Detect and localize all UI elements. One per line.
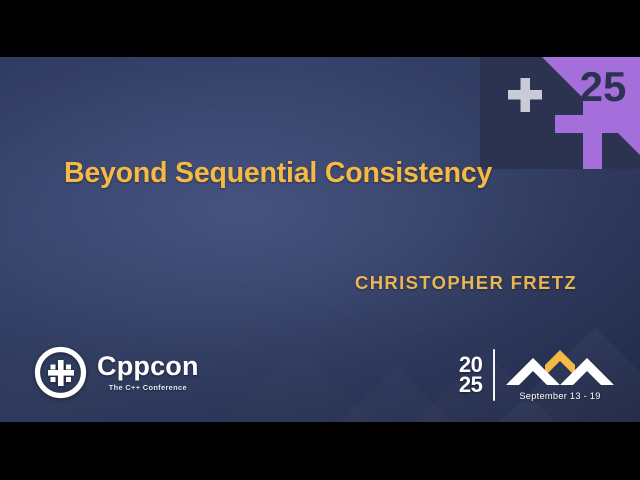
slide-canvas: 25 + 25 Beyond Sequential Consistency CH… (0, 57, 640, 422)
background-watermark-shape (205, 347, 392, 422)
cppcon-logo: Cppcon The C++ Conference (33, 345, 199, 400)
background-watermark-shape (328, 366, 464, 422)
cppcon-circle-plus-icon (33, 345, 88, 400)
conference-year: 20 25 (459, 355, 482, 395)
conference-dates: September 13 - 19 (519, 391, 600, 401)
cppcon-tagline: The C++ Conference (109, 383, 187, 392)
edition-number: 25 (580, 63, 627, 110)
edition-corner-badge: 25 + 25 (480, 57, 640, 169)
letterbox-top (0, 0, 640, 57)
year-bottom: 25 (459, 375, 482, 395)
vertical-divider (493, 349, 495, 401)
conference-date-block: 20 25 September 13 - 19 (459, 349, 614, 401)
letterbox-bottom (0, 422, 640, 480)
conference-title-slide: 25 + 25 Beyond Sequential Consistency CH… (0, 0, 640, 480)
mountain-chevrons-icon (506, 350, 614, 387)
talk-title: Beyond Sequential Consistency (64, 157, 584, 191)
speaker-name: CHRISTOPHER FRETZ (355, 272, 577, 294)
cppcon-wordmark-text: Cppcon (97, 353, 199, 380)
